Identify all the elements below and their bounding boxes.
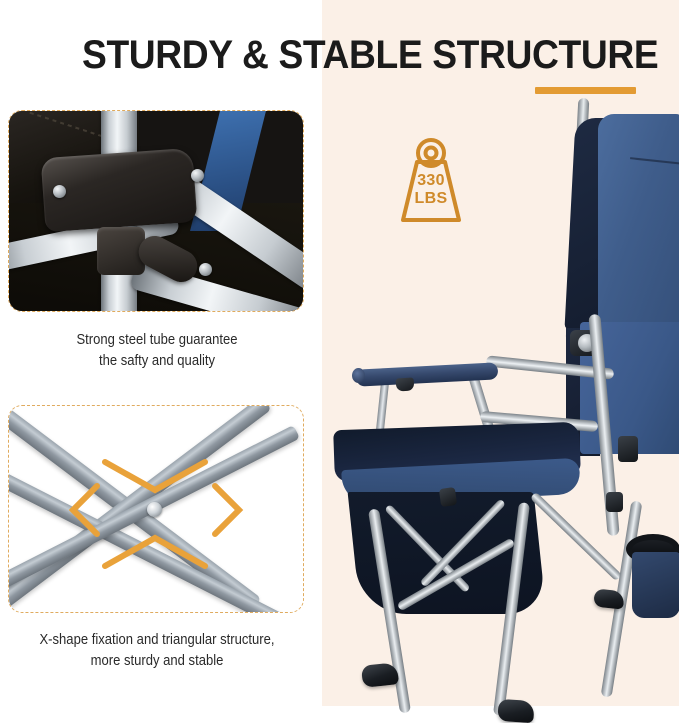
rivet-icon xyxy=(199,263,212,276)
rivet-icon xyxy=(53,185,66,198)
caption-hinge-line-1: Strong steel tube guarantee xyxy=(20,330,294,351)
rubber-foot xyxy=(497,699,534,723)
armrest-end-cap xyxy=(352,368,365,383)
chevron-up-icon xyxy=(105,538,205,566)
rubber-foot xyxy=(361,662,399,688)
caption-xframe-line-1: X-shape fixation and triangular structur… xyxy=(20,630,294,651)
center-bolt-icon xyxy=(147,502,162,517)
chevron-left-icon xyxy=(73,486,97,534)
caption-hinge: Strong steel tube guarantee the safty an… xyxy=(20,330,294,372)
feature-photo-panel-hinge xyxy=(8,110,304,312)
product-photo-folding-chair xyxy=(330,100,679,706)
hinge-closeup-photo xyxy=(9,111,303,311)
chevron-down-icon xyxy=(105,462,205,490)
caption-xframe-line-2: more sturdy and stable xyxy=(20,651,294,672)
chevron-right-icon xyxy=(215,486,239,534)
header: STURDY & STABLE STRUCTURE xyxy=(0,0,679,100)
feature-photo-panel-xframe xyxy=(8,405,304,613)
page-title: STURDY & STABLE STRUCTURE xyxy=(82,33,658,78)
armrest-bracket xyxy=(396,377,415,391)
caption-hinge-line-2: the safty and quality xyxy=(20,351,294,372)
rivet-icon xyxy=(191,169,204,182)
title-underline-accent xyxy=(535,87,636,94)
backrest-blue-fabric xyxy=(598,114,679,328)
frame-clamp xyxy=(439,487,457,507)
x-frame-diagram xyxy=(9,406,303,612)
caption-xframe: X-shape fixation and triangular structur… xyxy=(20,630,294,672)
side-pocket-fabric xyxy=(632,552,679,618)
frame-clamp xyxy=(618,436,638,462)
frame-clamp xyxy=(606,492,623,512)
